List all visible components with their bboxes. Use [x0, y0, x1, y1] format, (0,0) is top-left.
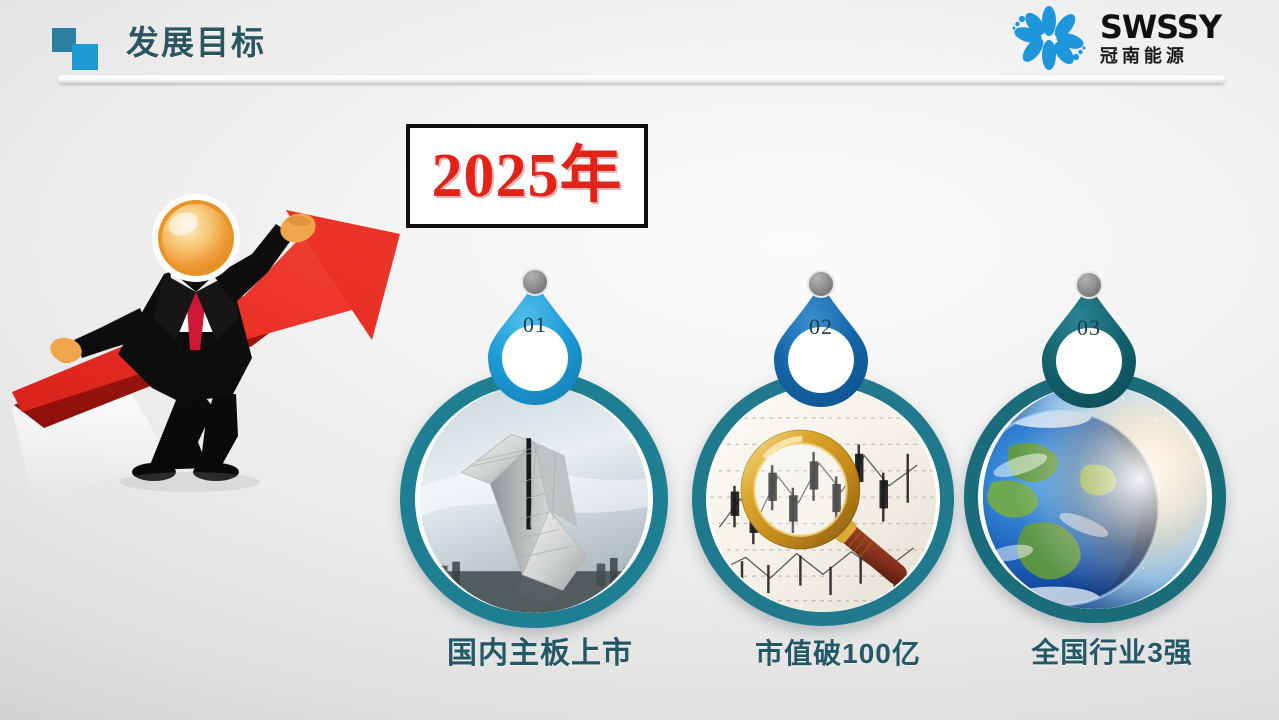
goal-stack: 03 全国行业3强: [962, 265, 1262, 637]
header-square-secondary-icon: [72, 44, 98, 70]
goal-item-02[interactable]: 02 市值破100亿: [688, 262, 988, 634]
slide-canvas: 发展目标: [0, 0, 1279, 720]
slide-header: 发展目标: [0, 0, 1279, 96]
logo-brand-name: SWSSY: [1100, 10, 1221, 44]
year-badge: 2025年: [406, 124, 648, 228]
goal-pin-03[interactable]: 03: [1024, 269, 1154, 419]
goal-item-01[interactable]: 01 国内主板上市: [390, 258, 690, 630]
goal-label-01: 国内主板上市: [390, 636, 690, 672]
company-logo: SWSSY 冠南能源: [1010, 4, 1221, 72]
modern-building-photo-icon: [415, 385, 653, 613]
page-title: 发展目标: [126, 21, 266, 65]
goal-item-03[interactable]: 03 全国行业3强: [962, 265, 1262, 637]
logo-brand-subtitle: 冠南能源: [1100, 45, 1221, 67]
goal-pin-02[interactable]: 02: [756, 268, 886, 418]
goal-stack: 02 市值破100亿: [688, 262, 988, 634]
year-badge-text: 2025年: [431, 145, 622, 207]
header-divider: [58, 75, 1225, 84]
goal-label-03: 全国行业3强: [962, 635, 1262, 671]
petal-burst-icon: [1010, 5, 1088, 71]
magnifier-stock-chart-photo-icon: [706, 386, 940, 612]
goal-label-02: 市值破100亿: [688, 636, 988, 672]
logo-text-block: SWSSY 冠南能源: [1100, 10, 1221, 67]
goal-pin-01[interactable]: 01: [470, 266, 600, 416]
goal-stack: 01 国内主板上市: [390, 258, 690, 630]
